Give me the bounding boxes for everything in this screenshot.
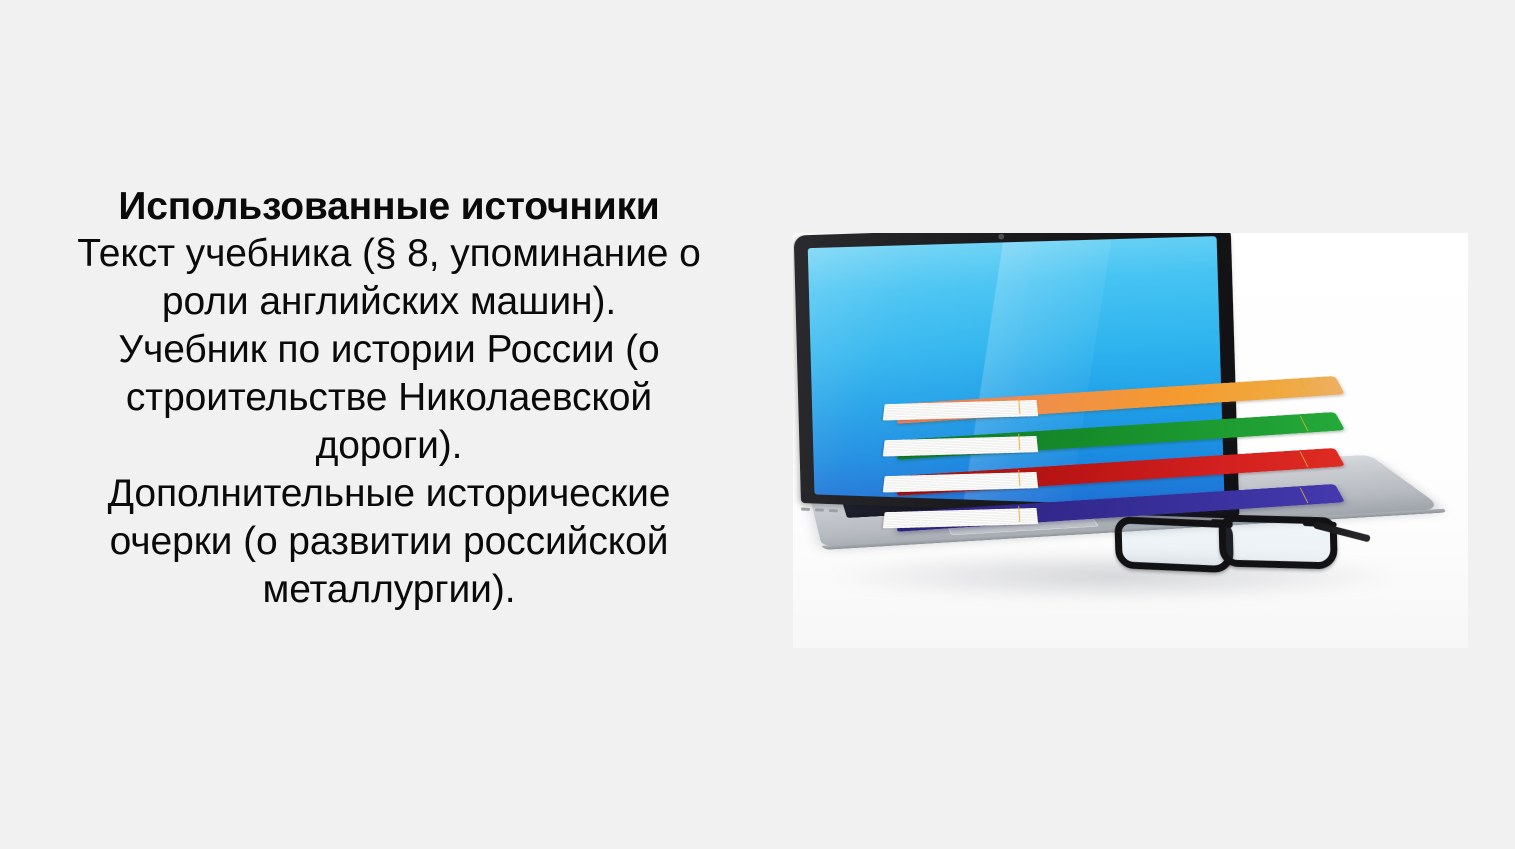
laptop-side-ports xyxy=(801,503,859,516)
source-line-3: Учебник по истории России (о xyxy=(22,326,756,374)
source-line-1: Текст учебника (§ 8, упоминание о xyxy=(22,230,756,278)
red-book-pages xyxy=(883,472,1038,493)
eyeglasses-bridge xyxy=(1210,519,1232,528)
book-stack xyxy=(901,381,1401,566)
source-line-7: очерки (о развитии российской xyxy=(22,518,756,566)
source-line-2: роли английских машин). xyxy=(22,278,756,326)
port-icon xyxy=(815,508,824,511)
port-icon xyxy=(829,508,838,511)
orange-book-pages xyxy=(883,400,1038,421)
illustration-panel xyxy=(793,233,1468,648)
green-book-pages xyxy=(883,436,1038,457)
blue-book-pages xyxy=(883,508,1038,529)
source-line-4: строительстве Николаевской xyxy=(22,374,756,422)
sources-text-block: Использованные источники Текст учебника … xyxy=(22,183,756,614)
slide-canvas: Использованные источники Текст учебника … xyxy=(0,0,1515,849)
eyeglasses-icon xyxy=(1114,506,1365,571)
source-line-8: металлургии). xyxy=(22,566,756,614)
page-title: Использованные источники xyxy=(22,183,756,230)
port-icon xyxy=(801,507,810,510)
photo-stage xyxy=(793,233,1468,648)
source-line-6: Дополнительные исторические xyxy=(22,470,756,518)
source-line-5: дороги). xyxy=(22,422,756,470)
webcam-icon xyxy=(999,234,1005,239)
